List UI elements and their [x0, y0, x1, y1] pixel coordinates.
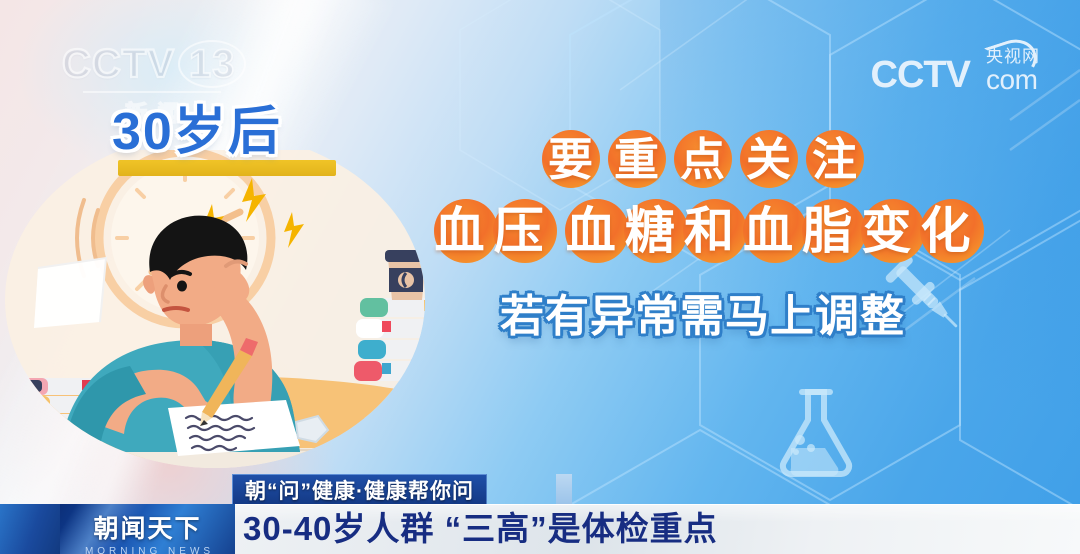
overlay-headline: 要重点关注 血压血糖和血脂变化 若有异常需马上调整 — [430, 128, 975, 342]
headline-glyph: 化 — [920, 205, 970, 257]
headline-chip-l1-1: 重 — [605, 128, 669, 192]
headline-line-3: 若有异常需马上调整 — [430, 292, 975, 342]
flying-paper — [34, 258, 106, 328]
headline-chip-l2b-5: 变 — [858, 196, 915, 266]
headline-glyph: 要 — [548, 137, 593, 183]
lower-third-headline: 30-40岁人群 “三高”是体检重点 — [243, 504, 718, 554]
headline-glyph: 压 — [494, 205, 544, 257]
lower-third-headline-text: 30-40岁人群 “三高”是体检重点 — [243, 511, 718, 547]
headline-chip-l2b-3: 血 — [740, 196, 797, 266]
headline-chip-l2b-4: 脂 — [799, 196, 856, 266]
headline-chip-l2b-1: 糖 — [621, 196, 678, 266]
headline-chip-l2b-0: 血 — [562, 196, 619, 266]
headline-glyph: 血 — [566, 205, 616, 257]
cctv13-divider — [83, 91, 221, 93]
headline-glyph: 变 — [861, 205, 911, 257]
headline-chip-l1-3: 关 — [737, 128, 801, 192]
headline-glyph: 点 — [680, 137, 725, 183]
headline-chip-l2b-6: 化 — [917, 196, 974, 266]
cctv-com-wordmark: CCTV — [871, 56, 970, 94]
age-title-underline — [118, 160, 336, 176]
cctv13-number: 13 — [178, 40, 247, 88]
headline-glyph: 注 — [812, 137, 857, 183]
illustration-stressed-worker — [0, 150, 470, 480]
cctv-com-brand: CCTV — [871, 54, 970, 96]
headline-chip-l1-4: 注 — [803, 128, 867, 192]
broadcast-screen: CCTV13 新闻 CCTV 央视网 com 30岁后 要重点关注 血压血糖和血… — [0, 0, 1080, 554]
age-title: 30岁后 — [112, 104, 282, 160]
headline-glyph: 糖 — [625, 205, 675, 257]
headline-glyph: 关 — [746, 137, 791, 183]
headline-chip-l2b-2: 和 — [680, 196, 737, 266]
age-title-text: 30岁后 — [112, 104, 282, 160]
cctv13-brand: CCTV — [62, 42, 175, 86]
cctv-com-logo: CCTV 央视网 com — [871, 44, 1040, 94]
headline-glyph: 血 — [743, 205, 793, 257]
coffee-cup-right — [385, 250, 429, 300]
headline-chip-l2a-1: 压 — [490, 196, 547, 266]
cctv13-wordmark: CCTV13 — [62, 40, 242, 88]
coffee-cup-left — [0, 380, 42, 446]
headline-glyph: 脂 — [802, 205, 852, 257]
headline-chip-l1-0: 要 — [539, 128, 603, 192]
headline-chip-l1-2: 点 — [671, 128, 735, 192]
headline-chip-l2a-0: 血 — [431, 196, 488, 266]
notebook-page — [168, 400, 300, 456]
lower-third: 朝闻天下 MORNING NEWS 30-40岁人群 “三高”是体检重点 — [0, 504, 1080, 554]
segment-title-text: 朝“问”健康·健康帮你问 — [245, 475, 474, 505]
segment-title-bar: 朝“问”健康·健康帮你问 — [232, 474, 487, 504]
program-name-cn: 朝闻天下 — [60, 509, 235, 545]
lower-third-left-edge — [0, 504, 60, 554]
segment-title-tail — [556, 474, 572, 504]
headline-glyph: 重 — [614, 137, 659, 183]
headline-line-1: 要重点关注 — [430, 128, 975, 192]
headline-glyph: 和 — [684, 205, 734, 257]
headline-glyph: 血 — [435, 205, 485, 257]
program-name-en: MORNING NEWS — [60, 546, 235, 554]
headline-line-2: 血压血糖和血脂变化 — [430, 196, 975, 266]
program-brand-block: 朝闻天下 MORNING NEWS — [60, 504, 235, 554]
